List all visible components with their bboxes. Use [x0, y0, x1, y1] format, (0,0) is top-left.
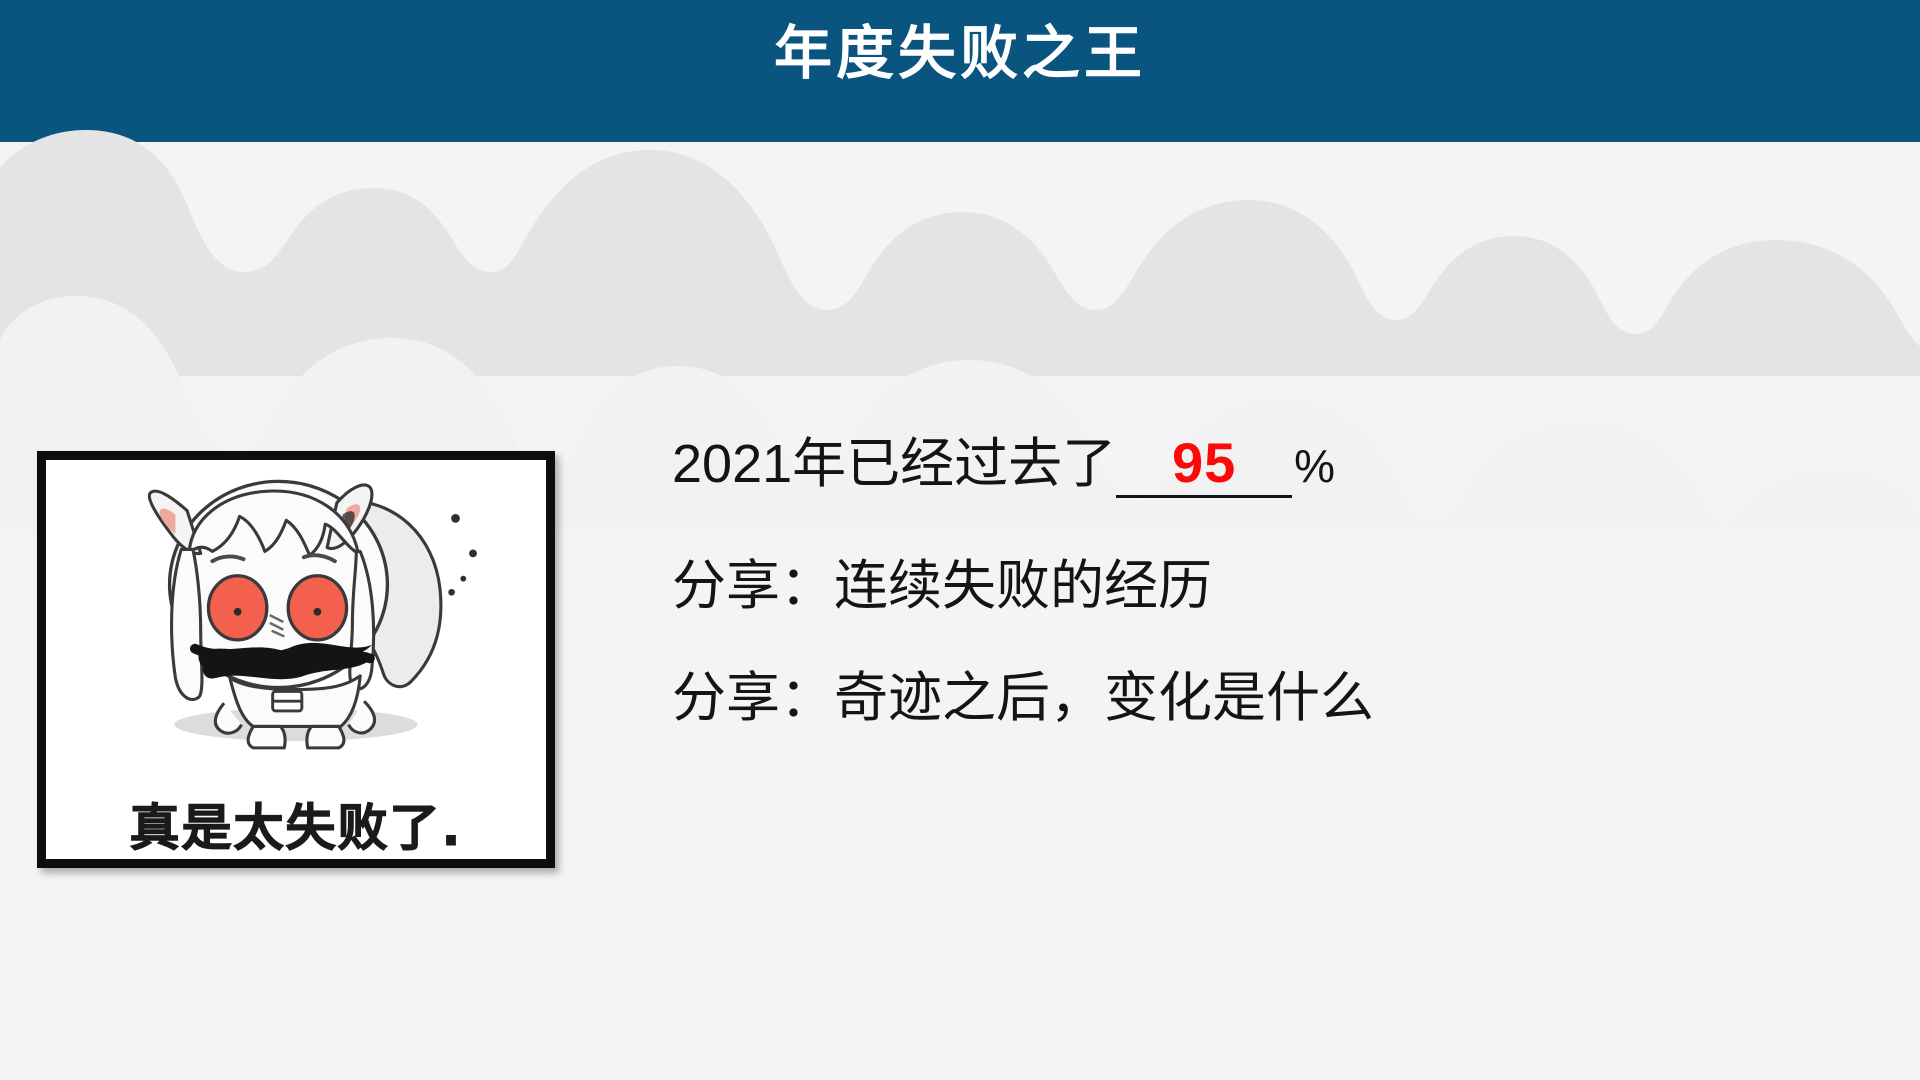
- slide-canvas: 年度失败之王: [0, 0, 1920, 1080]
- chibi-failure-illustration: [46, 460, 546, 771]
- share-line-1: 分享：连续失败的经历: [672, 556, 1872, 616]
- progress-prefix-label: 2021年已经过去了: [672, 434, 1116, 494]
- progress-blank[interactable]: 95: [1116, 432, 1292, 498]
- meme-image-frame: 真是太失败了.: [37, 451, 555, 868]
- progress-value: 95: [1172, 431, 1236, 494]
- content-text-block: 2021年已经过去了95% 分享：连续失败的经历 分享：奇迹之后，变化是什么: [672, 432, 1872, 729]
- page-title: 年度失败之王: [0, 22, 1920, 86]
- meme-caption: 真是太失败了.: [46, 803, 546, 853]
- percent-sign: %: [1294, 440, 1335, 492]
- progress-line: 2021年已经过去了95%: [672, 432, 1872, 498]
- share-line-2: 分享：奇迹之后，变化是什么: [672, 668, 1872, 728]
